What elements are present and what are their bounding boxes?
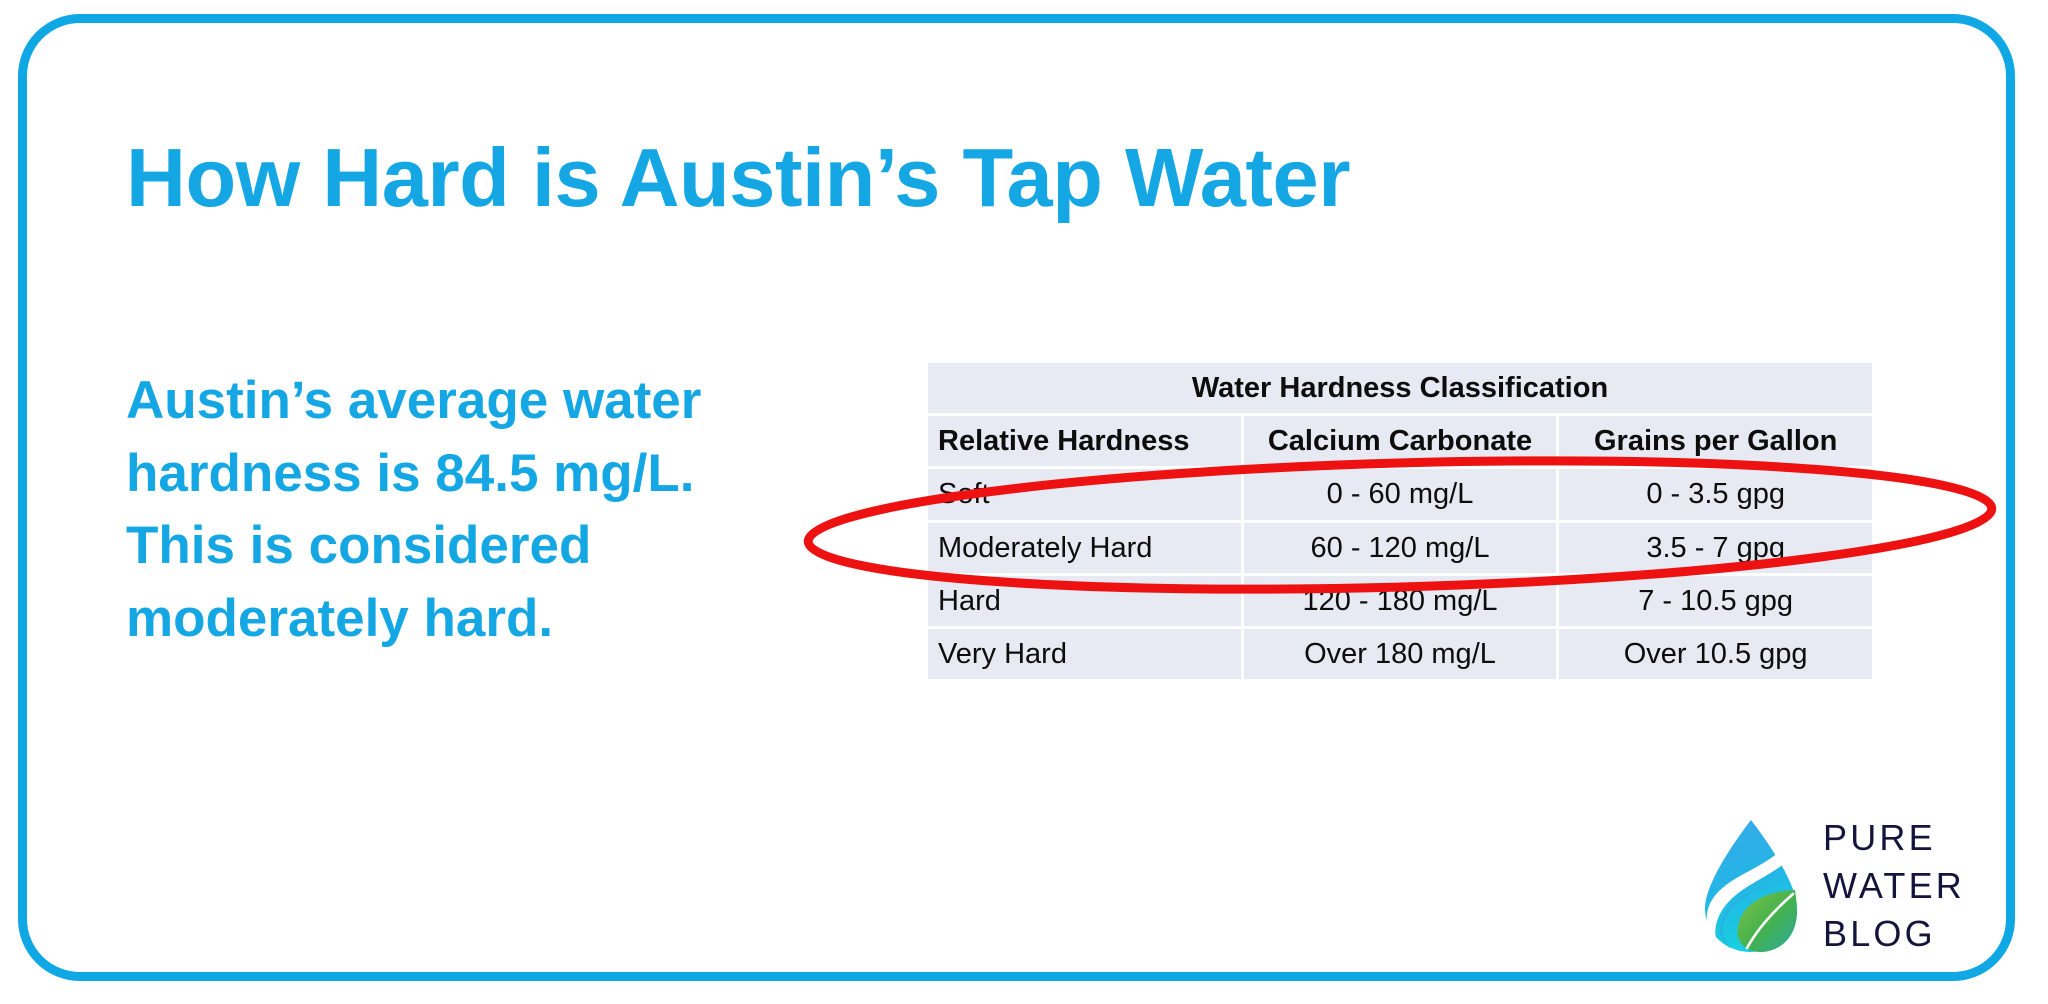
cell-calcium-carbonate: 60 - 120 mg/L — [1244, 523, 1557, 573]
column-header-relative-hardness: Relative Hardness — [928, 416, 1241, 466]
intro-paragraph: Austin’s average water hardness is 84.5 … — [126, 365, 706, 655]
slide-canvas: How Hard is Austin’s Tap Water Austin’s … — [0, 0, 2048, 1004]
cell-grains-per-gallon: 0 - 3.5 gpg — [1559, 469, 1872, 519]
logo-line-pure: PURE — [1823, 814, 1965, 862]
column-header-grains-per-gallon: Grains per Gallon — [1559, 416, 1872, 466]
cell-grains-per-gallon: 3.5 - 7 gpg — [1559, 523, 1872, 573]
water-drop-leaf-icon — [1697, 816, 1805, 956]
table-row: Hard 120 - 180 mg/L 7 - 10.5 gpg — [928, 576, 1872, 626]
logo-line-blog: BLOG — [1823, 910, 1965, 958]
cell-calcium-carbonate: Over 180 mg/L — [1244, 629, 1557, 679]
cell-grains-per-gallon: Over 10.5 gpg — [1559, 629, 1872, 679]
table-caption-row: Water Hardness Classification — [928, 363, 1872, 413]
hardness-table-container: Water Hardness Classification Relative H… — [925, 360, 1875, 682]
page-title: How Hard is Austin’s Tap Water — [126, 134, 1726, 221]
table-row: Very Hard Over 180 mg/L Over 10.5 gpg — [928, 629, 1872, 679]
logo-line-water: WATER — [1823, 862, 1965, 910]
cell-grains-per-gallon: 7 - 10.5 gpg — [1559, 576, 1872, 626]
table-header-row: Relative Hardness Calcium Carbonate Grai… — [928, 416, 1872, 466]
table-row: Soft 0 - 60 mg/L 0 - 3.5 gpg — [928, 469, 1872, 519]
table-row: Moderately Hard 60 - 120 mg/L 3.5 - 7 gp… — [928, 523, 1872, 573]
logo-wordmark: PURE WATER BLOG — [1823, 814, 1965, 959]
water-hardness-table: Water Hardness Classification Relative H… — [925, 360, 1875, 682]
cell-hardness: Soft — [928, 469, 1241, 519]
cell-hardness: Very Hard — [928, 629, 1241, 679]
cell-calcium-carbonate: 120 - 180 mg/L — [1244, 576, 1557, 626]
brand-logo: PURE WATER BLOG — [1697, 812, 2017, 960]
cell-calcium-carbonate: 0 - 60 mg/L — [1244, 469, 1557, 519]
table-caption: Water Hardness Classification — [928, 363, 1872, 413]
cell-hardness: Hard — [928, 576, 1241, 626]
column-header-calcium-carbonate: Calcium Carbonate — [1244, 416, 1557, 466]
cell-hardness: Moderately Hard — [928, 523, 1241, 573]
